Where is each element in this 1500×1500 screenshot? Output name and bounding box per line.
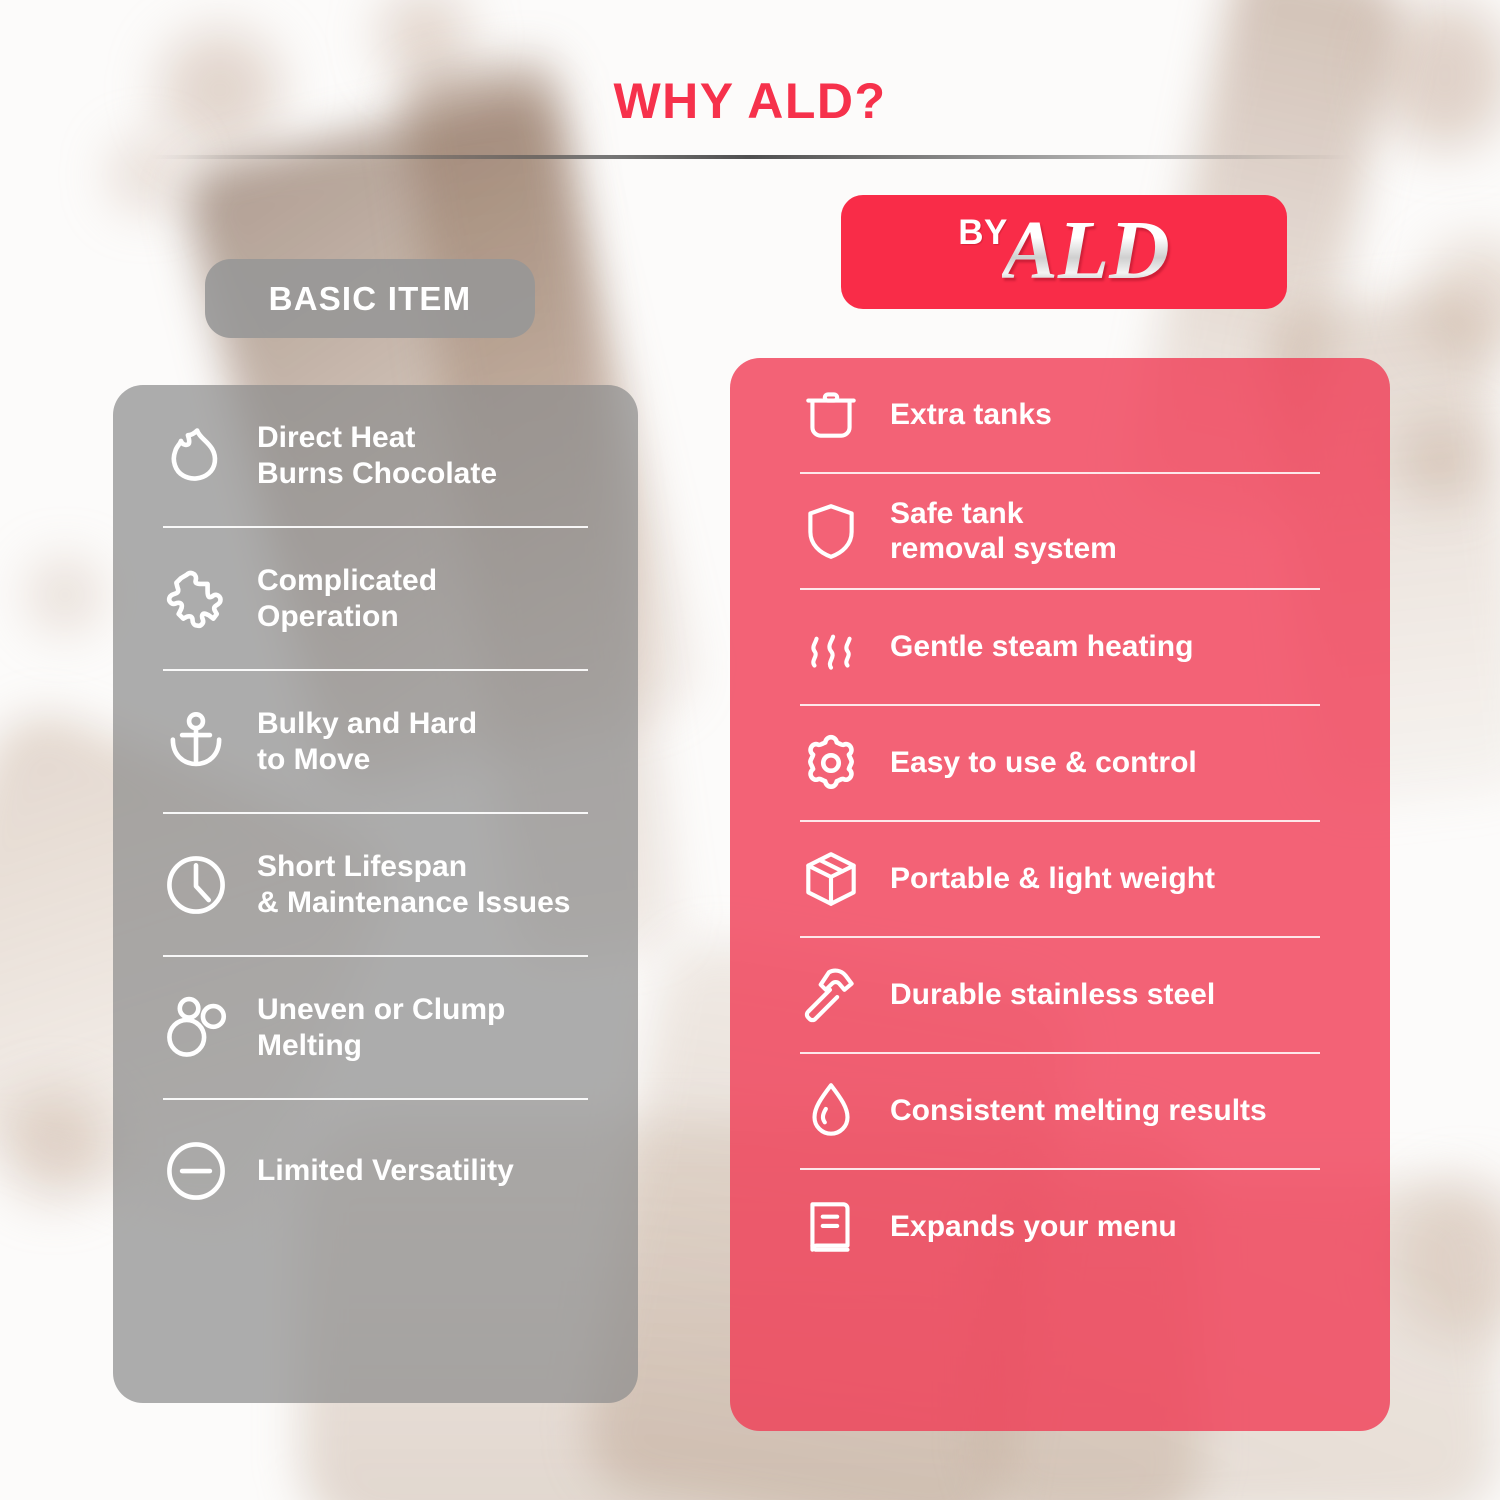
droplet-icon bbox=[798, 1078, 864, 1144]
page-title: WHY ALD? bbox=[0, 72, 1500, 130]
badge-prefix-by: BY bbox=[958, 215, 1008, 250]
list-item: Direct Heat Burns Chocolate bbox=[159, 385, 592, 526]
list-item: Limited Versatility bbox=[159, 1100, 592, 1241]
list-item: Portable & light weight bbox=[798, 822, 1322, 936]
list-item: Safe tank removal system bbox=[798, 474, 1322, 588]
list-item: Consistent melting results bbox=[798, 1054, 1322, 1168]
list-item-label: Consistent melting results bbox=[890, 1093, 1267, 1128]
list-item: Complicated Operation bbox=[159, 528, 592, 669]
list-item: Easy to use & control bbox=[798, 706, 1322, 820]
basic-item-badge: BASIC ITEM bbox=[205, 259, 535, 338]
badge-brand-ald: ALD bbox=[1002, 209, 1170, 293]
by-ald-card: Extra tanks Safe tank removal system Gen… bbox=[730, 358, 1390, 1431]
list-item-label: Safe tank removal system bbox=[890, 496, 1117, 567]
gear-icon bbox=[798, 730, 864, 796]
basic-item-card: Direct Heat Burns Chocolate Complicated … bbox=[113, 385, 638, 1403]
list-item-label: Limited Versatility bbox=[257, 1153, 514, 1188]
puzzle-icon bbox=[159, 562, 233, 636]
list-item-label: Portable & light weight bbox=[890, 861, 1215, 896]
list-item-label: Durable stainless steel bbox=[890, 977, 1215, 1012]
list-item-label: Uneven or Clump Melting bbox=[257, 992, 505, 1063]
flame-icon bbox=[159, 419, 233, 493]
steam-icon bbox=[798, 614, 864, 680]
list-item: Short Lifespan & Maintenance Issues bbox=[159, 814, 592, 955]
list-item-label: Easy to use & control bbox=[890, 745, 1197, 780]
list-item-label: Short Lifespan & Maintenance Issues bbox=[257, 849, 570, 920]
by-ald-list: Extra tanks Safe tank removal system Gen… bbox=[730, 358, 1390, 1431]
box-icon bbox=[798, 846, 864, 912]
basic-item-list: Direct Heat Burns Chocolate Complicated … bbox=[113, 385, 638, 1403]
anchor-icon bbox=[159, 705, 233, 779]
list-item: Expands your menu bbox=[798, 1170, 1322, 1284]
list-item: Extra tanks bbox=[798, 358, 1322, 472]
list-item: Durable stainless steel bbox=[798, 938, 1322, 1052]
title-divider bbox=[150, 155, 1350, 159]
list-item: Gentle steam heating bbox=[798, 590, 1322, 704]
list-item-label: Complicated Operation bbox=[257, 563, 437, 634]
list-item-label: Direct Heat Burns Chocolate bbox=[257, 420, 497, 491]
shield-icon bbox=[798, 498, 864, 564]
clock-icon bbox=[159, 848, 233, 922]
by-ald-badge: BY ALD bbox=[841, 195, 1287, 309]
pot-icon bbox=[798, 382, 864, 448]
minus-circle-icon bbox=[159, 1134, 233, 1208]
book-icon bbox=[798, 1194, 864, 1260]
hammer-icon bbox=[798, 962, 864, 1028]
list-item: Bulky and Hard to Move bbox=[159, 671, 592, 812]
basic-item-badge-label: BASIC ITEM bbox=[269, 280, 472, 318]
list-item-label: Gentle steam heating bbox=[890, 629, 1193, 664]
list-item-label: Extra tanks bbox=[890, 397, 1052, 432]
list-item-label: Expands your menu bbox=[890, 1209, 1177, 1244]
list-item: Uneven or Clump Melting bbox=[159, 957, 592, 1098]
bubbles-icon bbox=[159, 991, 233, 1065]
list-item-label: Bulky and Hard to Move bbox=[257, 706, 477, 777]
